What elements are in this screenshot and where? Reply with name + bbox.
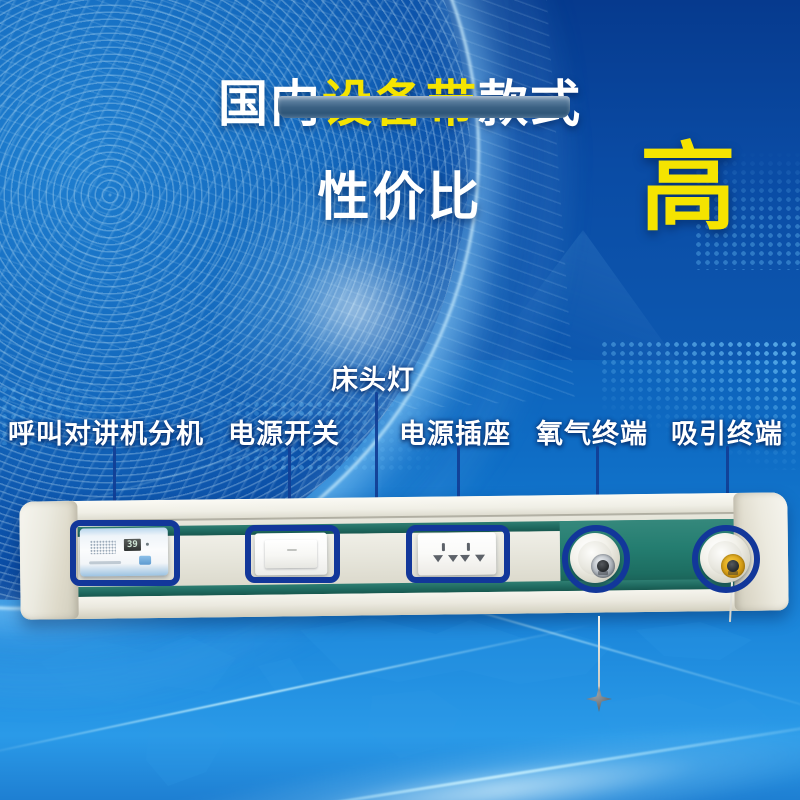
headline-emphasis-character: 高 xyxy=(640,140,736,236)
bedside-lamp-diffuser[interactable] xyxy=(278,96,570,118)
highlight-box-intercom xyxy=(70,520,180,586)
highlight-circle-oxygen-terminal xyxy=(562,525,630,593)
highlight-box-power-switch xyxy=(245,525,340,583)
callout-oxygen-terminal: 氧气终端 xyxy=(536,412,648,451)
highlight-circle-suction-terminal xyxy=(692,525,760,593)
poster-canvas: 国内设备带款式 性价比 高 呼叫对讲机分机 电源开关 床头灯 电源插座 氧气终端… xyxy=(0,0,800,800)
callout-power-switch: 电源开关 xyxy=(228,412,340,451)
highlight-box-power-socket xyxy=(406,525,510,583)
lamp-pull-cord[interactable] xyxy=(598,616,600,692)
callout-nurse-call-intercom: 呼叫对讲机分机 xyxy=(8,412,204,451)
callout-power-socket: 电源插座 xyxy=(399,412,511,451)
callout-bedside-lamp: 床头灯 xyxy=(331,358,415,397)
